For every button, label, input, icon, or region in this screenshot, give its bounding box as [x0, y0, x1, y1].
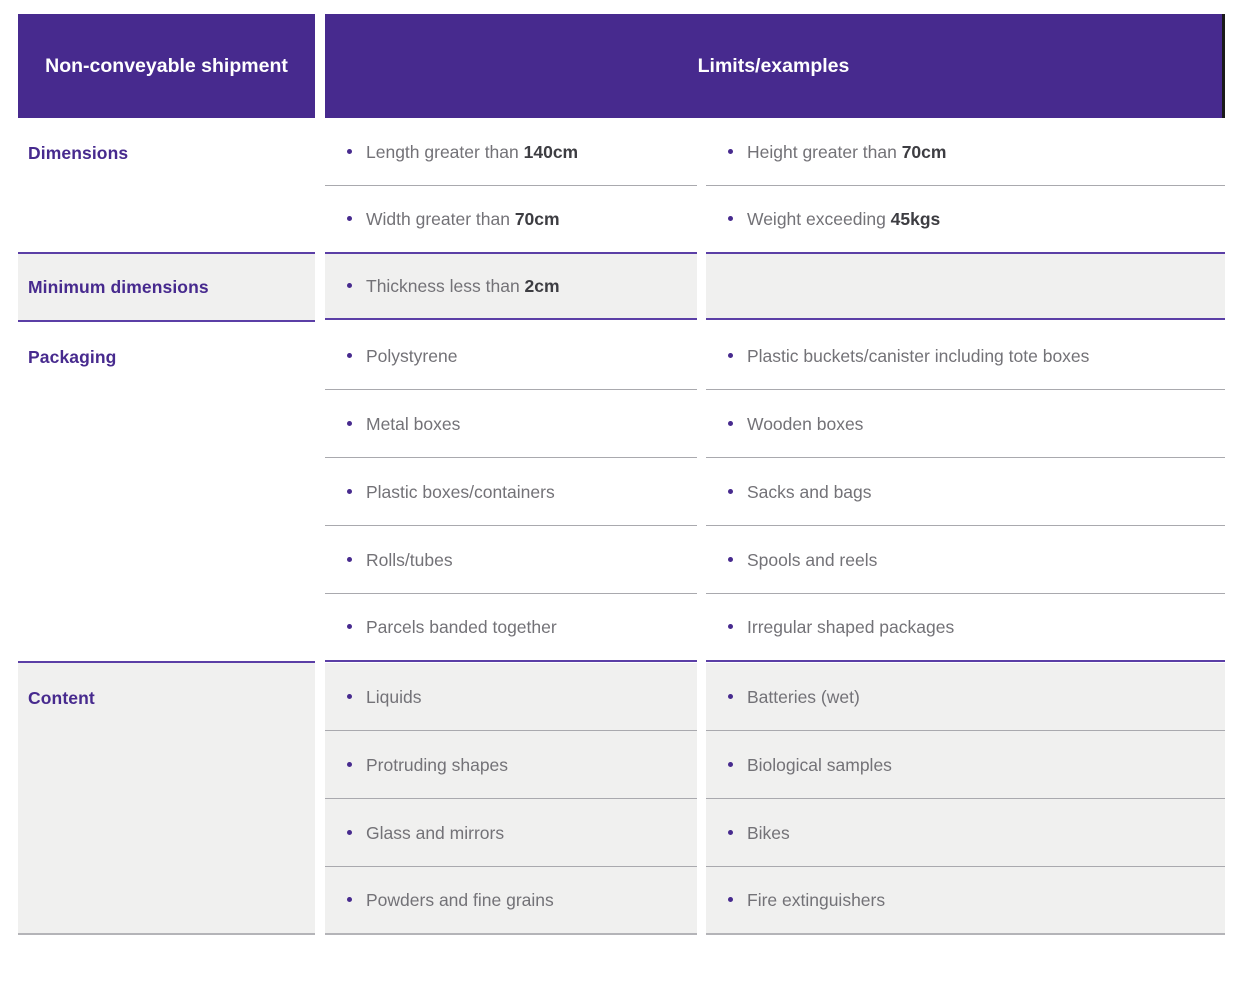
list-item: Plastic boxes/containers: [325, 458, 697, 526]
list-item: Plastic buckets/canister including tote …: [706, 322, 1225, 390]
list-item: Width greater than 70cm: [325, 186, 697, 254]
list-item: Spools and reels: [706, 526, 1225, 594]
row-label-content: Content: [18, 663, 315, 935]
row-label-minimum-dimensions: Minimum dimensions: [18, 254, 315, 322]
bullet-icon: [347, 897, 352, 902]
header-label-limits: Limits/examples: [698, 53, 850, 80]
item-label: Length greater than: [366, 142, 524, 162]
item-text: Width greater than 70cm: [333, 207, 560, 231]
bullet-icon: [347, 694, 352, 699]
list-item: Length greater than 140cm: [325, 118, 697, 186]
list-item: Parcels banded together: [325, 594, 697, 662]
bullet-icon: [347, 353, 352, 358]
item-text: Rolls/tubes: [333, 548, 453, 572]
item-label: Wooden boxes: [747, 412, 863, 436]
bullet-icon: [728, 624, 733, 629]
item-value: 70cm: [515, 209, 560, 229]
header-label-category: Non-conveyable shipment: [45, 53, 288, 80]
label-minimum-dimensions: Minimum dimensions: [28, 276, 209, 298]
list-item-empty: [706, 254, 1225, 320]
item-label: Protruding shapes: [366, 753, 508, 777]
table-header-row: Non-conveyable shipment Limits/examples: [18, 14, 1225, 118]
item-text: Metal boxes: [333, 412, 460, 436]
item-label: Irregular shaped packages: [747, 615, 954, 639]
item-label: Spools and reels: [747, 548, 877, 572]
bullet-icon: [347, 624, 352, 629]
bullet-icon: [728, 421, 733, 426]
item-text: Plastic buckets/canister including tote …: [714, 344, 1089, 368]
item-text: Liquids: [333, 685, 421, 709]
bullet-icon: [728, 762, 733, 767]
column-gap-1: [315, 254, 325, 322]
item-label: Thickness less than: [366, 276, 525, 296]
item-label: Batteries (wet): [747, 685, 860, 709]
item-text: Spools and reels: [714, 548, 877, 572]
column-gap-1: [315, 118, 325, 254]
list-item: Height greater than 70cm: [706, 118, 1225, 186]
section-dimensions: Dimensions Length greater than 140cm Wid…: [18, 118, 1225, 254]
item-label: Polystyrene: [366, 344, 457, 368]
item-text: Thickness less than 2cm: [333, 274, 560, 298]
list-item: Batteries (wet): [706, 663, 1225, 731]
item-label: Glass and mirrors: [366, 821, 504, 845]
item-value: 140cm: [524, 142, 579, 162]
bullet-icon: [728, 694, 733, 699]
item-value: 70cm: [902, 142, 947, 162]
section-packaging: Packaging Polystyrene Metal boxes Plasti…: [18, 322, 1225, 663]
list-item: Protruding shapes: [325, 731, 697, 799]
section-label-column-content: Content: [18, 663, 315, 935]
item-text: Biological samples: [714, 753, 892, 777]
item-label: Biological samples: [747, 753, 892, 777]
item-text: Glass and mirrors: [333, 821, 504, 845]
item-text: Fire extinguishers: [714, 888, 885, 912]
item-text: Height greater than 70cm: [714, 140, 946, 164]
list-item: Wooden boxes: [706, 390, 1225, 458]
section-label-column-dimensions: Dimensions: [18, 118, 315, 254]
bullet-icon: [728, 149, 733, 154]
item-text: Powders and fine grains: [333, 888, 554, 912]
items-column-right-dimensions: Height greater than 70cm Weight exceedin…: [706, 118, 1225, 254]
bullet-icon: [347, 421, 352, 426]
item-label: Height greater than: [747, 142, 902, 162]
item-text: Wooden boxes: [714, 412, 863, 436]
items-column-right-minimum-dimensions: [706, 254, 1225, 322]
header-cell-category: Non-conveyable shipment: [18, 14, 315, 118]
row-label-dimensions: Dimensions: [18, 118, 315, 254]
items-column-right-content: Batteries (wet) Biological samples Bikes…: [706, 663, 1225, 935]
items-column-right-packaging: Plastic buckets/canister including tote …: [706, 322, 1225, 663]
item-text: Weight exceeding 45kgs: [714, 207, 940, 231]
column-gap-2: [697, 118, 706, 254]
list-item: Metal boxes: [325, 390, 697, 458]
bullet-icon: [728, 216, 733, 221]
item-value: 2cm: [525, 276, 560, 296]
non-conveyable-shipment-table: Non-conveyable shipment Limits/examples …: [18, 14, 1225, 935]
item-label: Powders and fine grains: [366, 888, 554, 912]
item-label: Width greater than: [366, 209, 515, 229]
row-label-packaging: Packaging: [18, 322, 315, 663]
item-label: Weight exceeding: [747, 209, 891, 229]
bullet-icon: [347, 283, 352, 288]
items-column-left-dimensions: Length greater than 140cm Width greater …: [325, 118, 697, 254]
list-item: Liquids: [325, 663, 697, 731]
list-item: Bikes: [706, 799, 1225, 867]
item-label: Plastic boxes/containers: [366, 480, 555, 504]
header-gap: [315, 14, 325, 118]
item-text: Sacks and bags: [714, 480, 872, 504]
list-item: Irregular shaped packages: [706, 594, 1225, 662]
bullet-icon: [728, 830, 733, 835]
bullet-icon: [347, 489, 352, 494]
section-label-column-packaging: Packaging: [18, 322, 315, 663]
item-label: Liquids: [366, 685, 421, 709]
bullet-icon: [728, 557, 733, 562]
bullet-icon: [347, 830, 352, 835]
item-label: Rolls/tubes: [366, 548, 453, 572]
list-item: Powders and fine grains: [325, 867, 697, 935]
item-text: Bikes: [714, 821, 790, 845]
label-dimensions: Dimensions: [28, 142, 128, 164]
item-text: Length greater than 140cm: [333, 140, 578, 164]
column-gap-2: [697, 322, 706, 663]
list-item: Polystyrene: [325, 322, 697, 390]
bullet-icon: [728, 489, 733, 494]
column-gap-2: [697, 663, 706, 935]
item-label: Bikes: [747, 821, 790, 845]
item-text: Plastic boxes/containers: [333, 480, 555, 504]
header-cell-limits: Limits/examples: [325, 14, 1225, 118]
column-gap-1: [315, 322, 325, 663]
list-item: Weight exceeding 45kgs: [706, 186, 1225, 254]
item-text: Batteries (wet): [714, 685, 860, 709]
item-label: Fire extinguishers: [747, 888, 885, 912]
list-item: Rolls/tubes: [325, 526, 697, 594]
page-root: Non-conveyable shipment Limits/examples …: [0, 0, 1243, 999]
item-label: Parcels banded together: [366, 615, 557, 639]
section-content: Content Liquids Protruding shapes Glass …: [18, 663, 1225, 935]
items-column-left-content: Liquids Protruding shapes Glass and mirr…: [325, 663, 697, 935]
item-label: Sacks and bags: [747, 480, 872, 504]
section-minimum-dimensions: Minimum dimensions Thickness less than 2…: [18, 254, 1225, 322]
bullet-icon: [347, 216, 352, 221]
item-label: Plastic buckets/canister including tote …: [747, 344, 1089, 368]
label-packaging: Packaging: [28, 346, 116, 368]
item-text: Protruding shapes: [333, 753, 508, 777]
item-value: 45kgs: [891, 209, 941, 229]
items-column-left-minimum-dimensions: Thickness less than 2cm: [325, 254, 697, 322]
column-gap-1: [315, 663, 325, 935]
list-item: Thickness less than 2cm: [325, 254, 697, 320]
list-item: Sacks and bags: [706, 458, 1225, 526]
bullet-icon: [728, 897, 733, 902]
bullet-icon: [347, 149, 352, 154]
bullet-icon: [347, 762, 352, 767]
bullet-icon: [728, 353, 733, 358]
label-content: Content: [28, 687, 95, 709]
column-gap-2: [697, 254, 706, 322]
item-text: Polystyrene: [333, 344, 457, 368]
list-item: Biological samples: [706, 731, 1225, 799]
list-item: Fire extinguishers: [706, 867, 1225, 935]
item-label: Metal boxes: [366, 412, 460, 436]
list-item: Glass and mirrors: [325, 799, 697, 867]
item-text: Parcels banded together: [333, 615, 557, 639]
bullet-icon: [347, 557, 352, 562]
section-label-column-minimum-dimensions: Minimum dimensions: [18, 254, 315, 322]
items-column-left-packaging: Polystyrene Metal boxes Plastic boxes/co…: [325, 322, 697, 663]
item-text: Irregular shaped packages: [714, 615, 954, 639]
